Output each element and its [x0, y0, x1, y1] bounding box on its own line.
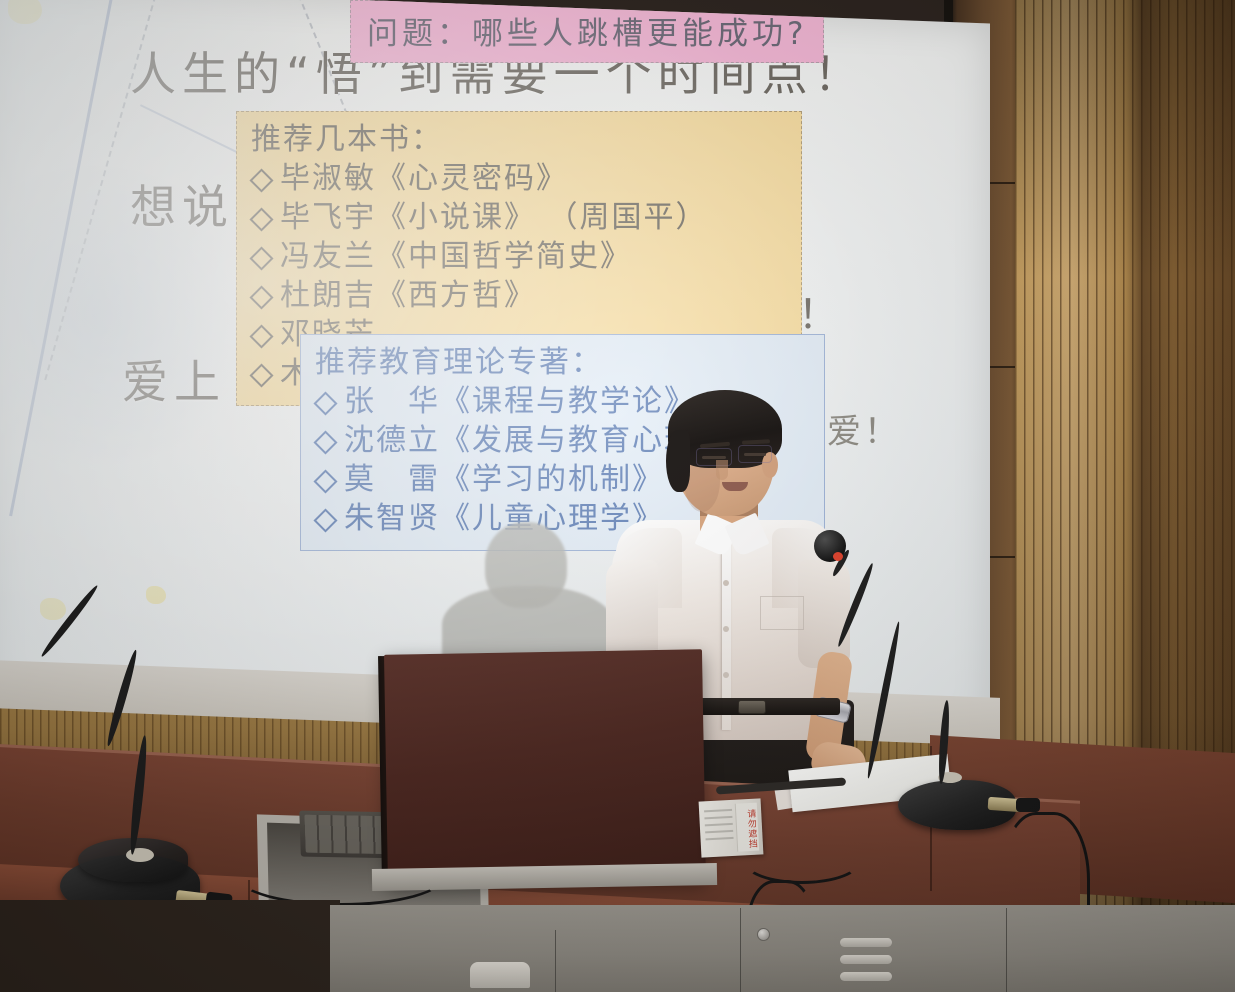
yellow-item-label: 毕淑敏《心灵密码》: [280, 161, 568, 196]
yellow-box-item: 冯友兰《中国哲学简史》: [251, 237, 787, 276]
slide-pink-banner: 问题：哪些人跳槽更能成功?: [350, 0, 824, 63]
shirt-button: [723, 626, 729, 632]
yellow-item-label: 杜朗吉《西方哲》: [280, 278, 536, 313]
presenter-nose: [716, 460, 728, 480]
diamond-bullet-icon: [313, 508, 337, 532]
shirt-button: [723, 672, 729, 678]
blue-box-heading: 推荐教育理论专著：: [315, 343, 810, 382]
slide-yellow-speck: [8, 0, 42, 24]
slide-yellow-speck: [146, 586, 166, 604]
cabinet-handle[interactable]: [470, 962, 530, 988]
slide-headline-3: 爱上: [122, 346, 226, 412]
slide-yellow-speck: [40, 598, 66, 620]
diamond-bullet-icon: [313, 469, 337, 493]
presenter-hair-side: [666, 430, 690, 492]
yellow-box-item: 毕淑敏《心灵密码》: [251, 159, 787, 198]
equipment-cabinet: [330, 905, 1235, 992]
presenter-shirt-pocket: [760, 596, 804, 630]
cabinet-vent-slot: [840, 938, 892, 947]
diamond-bullet-icon: [249, 363, 273, 387]
yellow-box-heading: 推荐几本书：: [251, 120, 787, 159]
cabinet-door-seam: [1006, 908, 1007, 992]
diamond-bullet-icon: [249, 207, 273, 231]
diamond-bullet-icon: [249, 246, 273, 270]
slide-exclamation: ！: [798, 282, 838, 340]
mic-cable-plug-right: [1016, 798, 1040, 812]
yellow-box-item: 杜朗吉《西方哲》: [251, 276, 787, 315]
blue-item-label: 张 华《课程与教学论》: [344, 384, 696, 419]
yellow-item-label: 冯友兰《中国哲学简史》: [280, 239, 632, 274]
carton-print-lines: [704, 809, 734, 845]
diamond-bullet-icon: [313, 391, 337, 415]
shirt-button: [723, 580, 729, 586]
yellow-box-item: 毕飞宇《小说课》 （周国平）: [251, 198, 787, 237]
diamond-bullet-icon: [249, 324, 273, 348]
presenter-sleeve-right: [798, 560, 850, 668]
cabinet-vent-slot: [840, 972, 892, 981]
microphone-cable: [742, 836, 862, 884]
presenter-belt-buckle: [738, 700, 766, 714]
diamond-bullet-icon: [249, 285, 273, 309]
slide-headline-2: 想说: [130, 171, 234, 237]
microphone-cable: [236, 846, 446, 906]
microphone-status-indicator: [833, 552, 843, 561]
cabinet-door-seam: [555, 930, 556, 992]
yellow-item-label: 毕飞宇《小说课》 （周国平）: [280, 200, 708, 235]
laptop-rear-panel: [384, 649, 706, 885]
carton-red-text: 请勿遮挡: [739, 809, 757, 850]
cabinet-lock-icon[interactable]: [757, 928, 770, 941]
cabinet-door-seam: [740, 908, 741, 992]
cabinet-left-shadow: [0, 900, 340, 992]
diamond-bullet-icon: [249, 168, 273, 192]
screenshot-root: 人生的“悟”到需要一个时间点！ 想说 爱上 问题：哪些人跳槽更能成功? ！ 的爱…: [0, 0, 1235, 992]
eyeglass-lens-right: [738, 445, 772, 463]
blue-item-label: 莫 雷《学习的机制》: [344, 462, 664, 497]
diamond-bullet-icon: [313, 430, 337, 454]
cabinet-vent-slot: [840, 955, 892, 964]
